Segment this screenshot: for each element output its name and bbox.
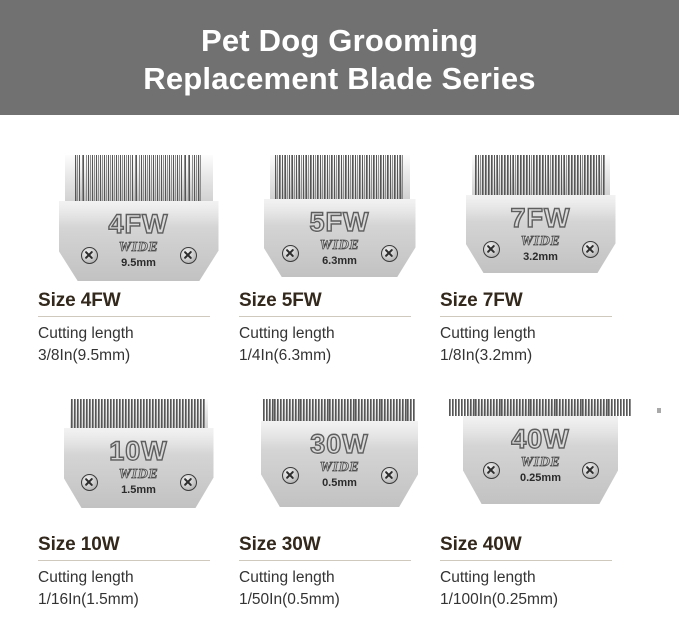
blade-tooth	[352, 155, 355, 199]
blade-tooth	[626, 399, 628, 416]
blade-tooth	[370, 399, 372, 421]
blade-tooth	[510, 155, 512, 195]
blade-tooth	[504, 155, 506, 195]
blade-tooth	[381, 399, 383, 421]
blade-tooth	[501, 399, 503, 416]
blade-tooth	[329, 399, 331, 421]
blade-tooth	[623, 399, 625, 416]
blade-tooth	[173, 399, 175, 428]
blade-tooth	[494, 155, 496, 195]
blade-tooth	[369, 155, 372, 199]
blade-tooth	[551, 399, 553, 416]
blade-body: 30WWIDE0.5mm	[261, 421, 418, 507]
blade-tooth	[309, 399, 311, 421]
blade-tooth	[283, 399, 285, 421]
blade-tooth	[523, 155, 525, 195]
blade-tooth	[355, 399, 357, 421]
blade-tooth	[582, 399, 584, 416]
screw-icon	[180, 474, 197, 491]
blade-tooth	[170, 399, 172, 428]
blade-tooth	[452, 399, 454, 416]
blade-tooth	[116, 155, 119, 201]
blade-tooth	[83, 399, 85, 428]
blade-tooth	[481, 399, 483, 416]
blade-tooth	[577, 155, 579, 195]
blade-tooth	[101, 399, 103, 428]
screw-icon	[381, 467, 398, 484]
blade-tooth	[306, 155, 309, 199]
product-size-title: Size 4FW	[38, 289, 225, 313]
cutting-length-value: 1/4In(6.3mm)	[239, 345, 426, 367]
blade-tooth	[120, 155, 123, 201]
blade-tooth	[79, 155, 82, 201]
blade-tooth	[327, 155, 330, 199]
blade-tooth	[161, 155, 164, 201]
blade-tooth	[153, 155, 156, 201]
blade-teeth-comb	[469, 399, 612, 416]
blade-tooth	[274, 399, 276, 421]
blade-tooth	[312, 399, 314, 421]
blade-meta-row: WIDE9.5mm	[59, 240, 219, 270]
blade-tooth	[591, 399, 593, 416]
blade-tooth	[522, 399, 524, 416]
product-cell-4fw[interactable]: 4FWWIDE9.5mmSize 4FWCutting length3/8In(…	[38, 149, 239, 367]
product-cell-40w[interactable]: 40WWIDE0.25mmSize 40WCutting length1/100…	[440, 393, 641, 611]
blade-tooth	[286, 399, 288, 421]
blade-graphic: 30WWIDE0.5mm	[261, 399, 418, 507]
blade-tooth	[149, 399, 151, 428]
blade-tooth	[475, 155, 477, 195]
blade-tooth	[390, 399, 392, 421]
product-caption: Size 30WCutting length1/50In(0.5mm)	[239, 533, 440, 611]
blade-tooth	[513, 155, 515, 195]
blade-tooth	[490, 399, 492, 416]
blade-engraved-wide: WIDE	[119, 467, 159, 482]
blade-tooth	[88, 155, 91, 201]
blade-tooth	[327, 399, 329, 421]
blade-tooth	[338, 399, 340, 421]
blade-tooth	[116, 399, 118, 428]
blade-tooth	[110, 399, 112, 428]
screw-icon	[282, 467, 299, 484]
blade-tooth	[497, 155, 499, 195]
blade-tooth	[158, 399, 160, 428]
blade-image-10w: 10WWIDE1.5mm	[38, 393, 239, 533]
blade-tooth	[513, 399, 515, 416]
blade-tooth	[554, 399, 556, 416]
blade-tooth	[410, 399, 412, 421]
blade-tooth	[125, 399, 127, 428]
blade-meta-row: WIDE0.25mm	[463, 455, 618, 485]
blade-tooth	[376, 155, 379, 199]
blade-tooth	[555, 155, 557, 195]
blade-tooth	[303, 399, 305, 421]
blade-tooth	[507, 155, 509, 195]
blade-teeth-comb	[65, 155, 213, 201]
blade-tooth	[140, 399, 142, 428]
blade-tooth	[507, 399, 509, 416]
blade-tooth	[146, 399, 148, 428]
product-row-top: 4FWWIDE9.5mmSize 4FWCutting length3/8In(…	[38, 149, 641, 367]
product-caption: Size 4FWCutting length3/8In(9.5mm)	[38, 289, 239, 367]
product-size-title: Size 40W	[440, 533, 627, 557]
cutting-length-value: 1/16In(1.5mm)	[38, 589, 225, 611]
blade-tooth	[584, 155, 586, 195]
cutting-length-label: Cutting length	[38, 323, 225, 345]
blade-tooth	[603, 155, 605, 195]
blade-tooth	[548, 399, 550, 416]
blade-tooth	[185, 399, 187, 428]
blade-engraving-text: WIDE0.25mm	[509, 455, 573, 485]
blade-tooth	[608, 399, 610, 416]
blade-tooth	[137, 399, 139, 428]
blade-tooth	[324, 399, 326, 421]
blade-tooth	[496, 399, 498, 416]
caption-divider	[38, 560, 210, 561]
blade-tooth	[510, 399, 512, 416]
blade-tooth	[528, 399, 530, 416]
blade-teeth-comb	[70, 399, 208, 428]
page-title-line-2: Replacement Blade Series	[143, 60, 535, 98]
blade-tooth	[611, 399, 613, 416]
header-banner: Pet Dog Grooming Replacement Blade Serie…	[0, 0, 679, 115]
product-caption: Size 10WCutting length1/16In(1.5mm)	[38, 533, 239, 611]
blade-engraved-mm: 0.25mm	[520, 471, 561, 485]
blade-image-40w: 40WWIDE0.25mm	[440, 393, 641, 533]
blade-tooth	[269, 399, 271, 421]
blade-tooth	[542, 399, 544, 416]
blade-tooth	[155, 399, 157, 428]
blade-tooth	[128, 155, 131, 201]
blade-tooth	[92, 399, 94, 428]
cutting-length-value: 1/50In(0.5mm)	[239, 589, 426, 611]
caption-divider	[239, 316, 411, 317]
blade-tooth	[320, 155, 323, 199]
blade-tooth	[362, 155, 365, 199]
blade-tooth	[179, 399, 181, 428]
blade-tooth	[306, 399, 308, 421]
blade-tooth	[143, 399, 145, 428]
blade-tooth	[181, 155, 184, 201]
blade-engraved-wide: WIDE	[521, 234, 561, 249]
blade-graphic: 4FWWIDE9.5mm	[59, 155, 219, 281]
blade-tooth	[104, 399, 106, 428]
blade-tooth	[285, 155, 288, 199]
blade-tooth	[561, 155, 563, 195]
blade-tooth	[536, 399, 538, 416]
blade-tooth	[298, 399, 300, 421]
blade-tooth	[617, 399, 619, 416]
product-size-title: Size 7FW	[440, 289, 627, 313]
screw-icon	[381, 245, 398, 262]
blade-engraved-model: 40W	[511, 424, 570, 454]
blade-tooth	[86, 399, 88, 428]
blade-graphic: 40WWIDE0.25mm	[463, 399, 618, 504]
blade-tooth	[614, 399, 616, 416]
cutting-length-label: Cutting length	[38, 567, 225, 589]
blade-tooth	[289, 399, 291, 421]
screw-icon	[582, 241, 599, 258]
blade-tooth	[397, 155, 400, 199]
blade-tooth	[95, 399, 97, 428]
blade-tooth	[562, 399, 564, 416]
blade-tooth	[347, 399, 349, 421]
blade-engraved-model: 10W	[109, 436, 168, 466]
blade-tooth	[519, 399, 521, 416]
blade-engraved-model: 7FW	[511, 203, 571, 233]
blade-tooth	[359, 155, 362, 199]
blade-tooth	[548, 155, 550, 195]
blade-body: 4FWWIDE9.5mm	[59, 201, 219, 281]
blade-tooth	[402, 399, 404, 421]
blade-tooth	[517, 155, 519, 195]
blade-tooth	[504, 399, 506, 416]
blade-tooth	[164, 399, 166, 428]
blade-tooth	[493, 399, 495, 416]
blade-tooth	[571, 399, 573, 416]
blade-tooth	[112, 155, 115, 201]
blade-engraving-text: WIDE6.3mm	[308, 238, 372, 268]
blade-tooth	[449, 399, 451, 416]
blade-meta-row: WIDE6.3mm	[264, 238, 416, 268]
blade-tooth	[367, 399, 369, 421]
blade-tooth	[100, 155, 103, 201]
blade-tooth	[525, 399, 527, 416]
blade-tooth	[92, 155, 95, 201]
blade-tooth	[119, 399, 121, 428]
blade-tooth	[263, 399, 265, 421]
blade-tooth	[197, 399, 199, 428]
blade-tooth	[488, 155, 490, 195]
blade-tooth	[571, 155, 573, 195]
blade-tooth	[373, 399, 375, 421]
blade-tooth	[89, 399, 91, 428]
blade-tooth	[539, 399, 541, 416]
caption-divider	[38, 316, 210, 317]
blade-engraving-text: WIDE0.5mm	[308, 460, 372, 490]
blade-tooth	[203, 399, 205, 428]
blade-tooth	[295, 399, 297, 421]
blade-tooth	[77, 399, 79, 428]
product-cell-5fw[interactable]: 5FWWIDE6.3mmSize 5FWCutting length1/4In(…	[239, 149, 440, 367]
blade-tooth	[332, 399, 334, 421]
blade-tooth	[473, 399, 475, 416]
blade-engraved-mm: 0.5mm	[322, 476, 357, 490]
blade-engraved-model: 5FW	[310, 207, 370, 237]
blade-tooth	[564, 155, 566, 195]
blade-tooth	[520, 155, 522, 195]
blade-tooth	[177, 155, 180, 201]
blade-engraving-text: WIDE1.5mm	[107, 467, 171, 497]
cutting-length-value: 3/8In(9.5mm)	[38, 345, 225, 367]
blade-tooth	[334, 155, 337, 199]
blade-tooth	[98, 399, 100, 428]
blade-tooth	[596, 155, 598, 195]
product-cell-7fw[interactable]: 7FWWIDE3.2mmSize 7FWCutting length1/8In(…	[440, 149, 641, 367]
blade-tooth	[376, 399, 378, 421]
cutting-length-value: 1/100In(0.25mm)	[440, 589, 627, 611]
blade-tooth	[74, 399, 76, 428]
blade-tooth	[136, 155, 139, 201]
blade-tooth	[194, 399, 196, 428]
blade-tooth	[455, 399, 457, 416]
blade-tooth	[580, 155, 582, 195]
blade-tooth	[113, 399, 115, 428]
blade-tooth	[491, 155, 493, 195]
blade-engraving-text: WIDE9.5mm	[107, 240, 171, 270]
blade-tooth	[574, 155, 576, 195]
blade-tooth	[574, 399, 576, 416]
blade-tooth	[75, 155, 78, 201]
blade-tooth	[331, 155, 334, 199]
blade-tooth	[275, 155, 278, 199]
blade-tooth	[458, 399, 460, 416]
blade-meta-row: WIDE0.5mm	[261, 460, 418, 490]
blade-engraved-wide: WIDE	[320, 460, 360, 475]
blade-tooth	[536, 155, 538, 195]
blade-tooth	[539, 155, 541, 195]
cutting-length-label: Cutting length	[239, 567, 426, 589]
blade-tooth	[373, 155, 376, 199]
blade-tooth	[313, 155, 316, 199]
blade-tooth	[568, 155, 570, 195]
blade-teeth-comb	[270, 155, 410, 199]
blade-engraved-model: 30W	[310, 429, 369, 459]
product-grid: 4FWWIDE9.5mmSize 4FWCutting length3/8In(…	[0, 149, 679, 611]
blade-tooth	[169, 155, 172, 201]
blade-tooth	[461, 399, 463, 416]
blade-tooth	[526, 155, 528, 195]
blade-tooth	[599, 155, 601, 195]
blade-tooth	[189, 155, 192, 201]
product-row-bottom: 10WWIDE1.5mmSize 10WCutting length1/16In…	[38, 393, 641, 611]
blade-tooth	[350, 399, 352, 421]
blade-tooth	[600, 399, 602, 416]
blade-tooth	[529, 155, 531, 195]
product-cell-10w[interactable]: 10WWIDE1.5mmSize 10WCutting length1/16In…	[38, 393, 239, 611]
blade-engraving-text: WIDE3.2mm	[509, 234, 573, 264]
blade-tooth	[157, 155, 160, 201]
blade-meta-row: WIDE3.2mm	[466, 234, 616, 264]
product-caption: Size 7FWCutting length1/8In(3.2mm)	[440, 289, 641, 367]
blade-tooth	[478, 155, 480, 195]
blade-tooth	[485, 155, 487, 195]
screw-icon	[81, 474, 98, 491]
blade-tooth	[182, 399, 184, 428]
blade-tooth	[310, 155, 313, 199]
blade-tooth	[345, 155, 348, 199]
blade-tooth	[464, 399, 466, 416]
blade-tooth	[341, 399, 343, 421]
blade-tooth	[399, 399, 401, 421]
blade-tooth	[366, 155, 369, 199]
blade-tooth	[629, 399, 631, 416]
blade-tooth	[484, 399, 486, 416]
blade-tooth	[568, 399, 570, 416]
blade-tooth	[379, 399, 381, 421]
blade-graphic: 10WWIDE1.5mm	[64, 399, 214, 508]
blade-tooth	[387, 155, 390, 199]
blade-engraved-model: 4FW	[109, 209, 169, 239]
blade-tooth	[606, 399, 608, 416]
blade-tooth	[542, 155, 544, 195]
blade-tooth	[590, 155, 592, 195]
blade-tooth	[296, 155, 299, 199]
product-caption: Size 40WCutting length1/100In(0.25mm)	[440, 533, 641, 611]
blade-tooth	[200, 399, 202, 428]
cutting-length-label: Cutting length	[440, 567, 627, 589]
image-artifact-mark	[657, 408, 661, 413]
blade-tooth	[533, 155, 535, 195]
blade-tooth	[364, 399, 366, 421]
blade-tooth	[338, 155, 341, 199]
blade-engraved-mm: 1.5mm	[121, 483, 156, 497]
caption-divider	[440, 560, 612, 561]
blade-tooth	[355, 155, 358, 199]
product-cell-30w[interactable]: 30WWIDE0.5mmSize 30WCutting length1/50In…	[239, 393, 440, 611]
blade-engraved-mm: 9.5mm	[121, 256, 156, 270]
blade-tooth	[300, 399, 302, 421]
caption-divider	[440, 316, 612, 317]
blade-tooth	[292, 155, 295, 199]
blade-tooth	[361, 399, 363, 421]
blade-tooth	[152, 399, 154, 428]
blade-tooth	[353, 399, 355, 421]
blade-tooth	[405, 399, 407, 421]
blade-image-30w: 30WWIDE0.5mm	[239, 393, 440, 533]
blade-tooth	[400, 155, 403, 199]
blade-tooth	[593, 155, 595, 195]
blade-tooth	[128, 399, 130, 428]
cutting-length-value: 1/8In(3.2mm)	[440, 345, 627, 367]
blade-tooth	[277, 399, 279, 421]
blade-tooth	[482, 155, 484, 195]
blade-tooth	[478, 399, 480, 416]
blade-graphic: 5FWWIDE6.3mm	[264, 155, 416, 277]
blade-tooth	[279, 155, 282, 199]
blade-tooth	[161, 399, 163, 428]
blade-tooth	[620, 399, 622, 416]
blade-tooth	[394, 155, 397, 199]
blade-tooth	[533, 399, 535, 416]
blade-graphic: 7FWWIDE3.2mm	[466, 155, 616, 273]
blade-tooth	[198, 155, 201, 201]
screw-icon	[483, 241, 500, 258]
blade-image-7fw: 7FWWIDE3.2mm	[440, 149, 641, 289]
blade-tooth	[585, 399, 587, 416]
blade-tooth	[470, 399, 472, 416]
blade-tooth	[559, 399, 561, 416]
page-title-line-1: Pet Dog Grooming	[201, 22, 478, 60]
blade-tooth	[597, 399, 599, 416]
blade-tooth	[299, 155, 302, 199]
blade-tooth	[552, 155, 554, 195]
blade-tooth	[393, 399, 395, 421]
blade-tooth	[188, 399, 190, 428]
blade-tooth	[96, 155, 99, 201]
blade-tooth	[516, 399, 518, 416]
blade-tooth	[272, 399, 274, 421]
blade-tooth	[407, 399, 409, 421]
blade-tooth	[396, 399, 398, 421]
blade-tooth	[545, 155, 547, 195]
blade-tooth	[173, 155, 176, 201]
blade-tooth	[132, 155, 135, 201]
blade-tooth	[383, 155, 386, 199]
blade-tooth	[341, 155, 344, 199]
screw-icon	[483, 462, 500, 479]
blade-tooth	[558, 155, 560, 195]
